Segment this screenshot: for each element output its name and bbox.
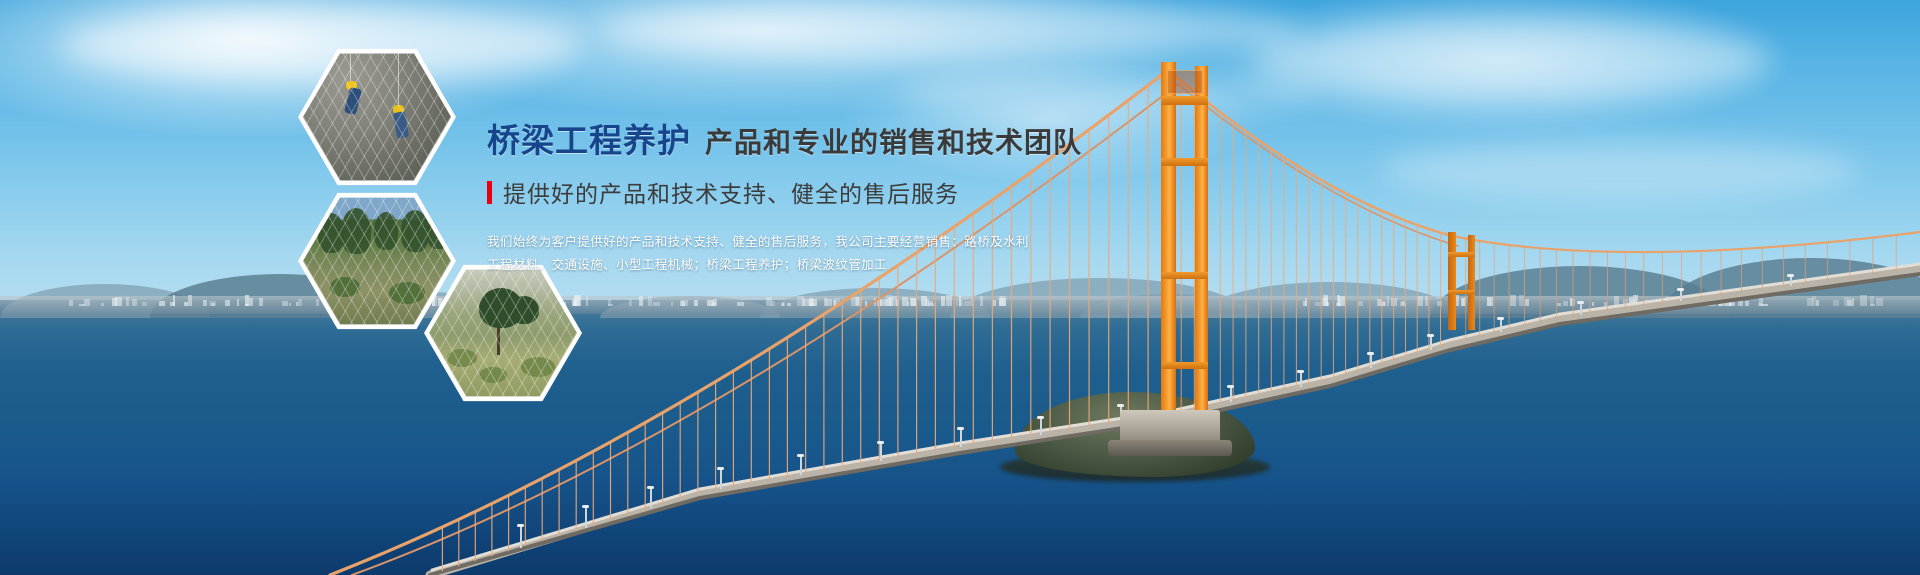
- description-paragraph: 我们始终为客户提供好的产品和技术支持、健全的售后服务，我公司主要经营销售：路桥及…: [487, 231, 907, 277]
- street-lamp-head: [1367, 352, 1374, 355]
- street-lamp: [1370, 354, 1372, 368]
- hex-photo-vegetated-slope-netting: [424, 262, 582, 404]
- street-lamp: [960, 429, 962, 447]
- street-lamp: [1230, 387, 1232, 402]
- street-lamp-head: [647, 486, 654, 489]
- headline: 桥梁工程养护 产品和专业的销售和技术团队: [487, 124, 1247, 157]
- street-lamp: [880, 443, 882, 462]
- street-lamp-head: [1227, 385, 1234, 388]
- street-lamp: [1580, 303, 1582, 315]
- subheadline-row: 提供好的产品和技术支持、健全的售后服务: [487, 175, 1247, 209]
- street-lamp-head: [1427, 334, 1434, 337]
- bridge-far-tower-crossbeam: [1448, 290, 1475, 294]
- bridge-tower-sign: [1167, 70, 1203, 94]
- bridge-far-tower-leg-right: [1468, 235, 1475, 330]
- bridge-far-tower-crossbeam: [1448, 252, 1475, 257]
- hex-photo-rock-slope-netting-workers: [298, 46, 456, 188]
- street-lamp: [1430, 336, 1432, 350]
- street-lamp: [1500, 319, 1502, 332]
- headline-secondary: 产品和专业的销售和技术团队: [705, 129, 1082, 157]
- street-lamp: [520, 526, 522, 548]
- street-lamp: [585, 507, 587, 528]
- banner-copy: 桥梁工程养护 产品和专业的销售和技术团队 提供好的产品和技术支持、健全的售后服务…: [487, 124, 1247, 277]
- suspension-bridge: [0, 0, 1920, 575]
- headline-primary: 桥梁工程养护: [487, 124, 691, 157]
- street-lamp: [1680, 290, 1682, 301]
- street-lamp-head: [1577, 301, 1584, 304]
- street-lamp: [720, 469, 722, 489]
- subheadline-text: 提供好的产品和技术支持、健全的售后服务: [503, 175, 959, 209]
- street-lamp-head: [797, 454, 804, 457]
- street-lamp-head: [582, 505, 589, 508]
- street-lamp-head: [1497, 317, 1504, 320]
- bridge-tower-crossbeam: [1161, 96, 1208, 105]
- street-lamp-head: [877, 441, 884, 444]
- hero-banner: 桥梁工程养护 产品和专业的销售和技术团队 提供好的产品和技术支持、健全的售后服务…: [0, 0, 1920, 575]
- street-lamp: [650, 488, 652, 509]
- bridge-far-tower-leg-left: [1448, 232, 1456, 330]
- street-lamp-head: [1677, 288, 1684, 291]
- bridge-pier: [1120, 410, 1220, 444]
- red-accent-bar: [487, 181, 492, 204]
- street-lamp-head: [1037, 416, 1044, 419]
- bridge-hangers: [0, 0, 1920, 575]
- street-lamp: [800, 456, 802, 475]
- street-lamp-head: [1117, 404, 1124, 407]
- street-lamp-head: [1787, 274, 1794, 277]
- description-line-2: 工程材料、交通设施、小型工程机械；桥梁工程养护；桥梁波纹管加工: [487, 254, 907, 277]
- street-lamp: [1300, 372, 1302, 387]
- street-lamp: [1040, 418, 1042, 435]
- street-lamp-head: [1297, 370, 1304, 373]
- street-lamp: [1790, 276, 1792, 286]
- bridge-tower-crossbeam: [1162, 362, 1208, 369]
- description-line-1: 我们始终为客户提供好的产品和技术支持、健全的售后服务，我公司主要经营销售：路桥及…: [487, 231, 907, 254]
- street-lamp-head: [957, 427, 964, 430]
- bridge-pier-base: [1108, 440, 1232, 456]
- street-lamp-head: [517, 524, 524, 527]
